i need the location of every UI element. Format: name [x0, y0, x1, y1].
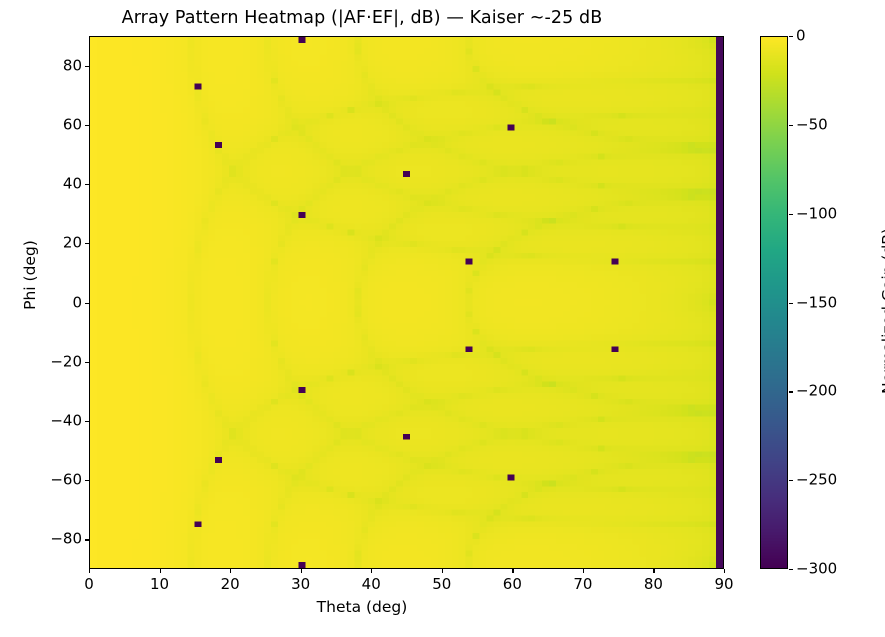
chart-title: Array Pattern Heatmap (|AF·EF|, dB) — Ka…	[0, 6, 724, 30]
x-tick-label: 20	[221, 575, 240, 594]
x-tick-label: 50	[432, 575, 451, 594]
x-tick-label: 60	[503, 575, 522, 594]
heatmap-image	[90, 37, 723, 568]
figure-canvas: Array Pattern Heatmap (|AF·EF|, dB) — Ka…	[0, 0, 885, 637]
x-tick	[160, 569, 161, 573]
y-tick	[85, 421, 89, 422]
y-tick-label: −60	[46, 471, 82, 490]
x-tick	[371, 569, 372, 573]
colorbar-tick	[789, 125, 793, 126]
colorbar-label: Normalized Gain (dB)	[879, 191, 885, 431]
y-tick-label: 60	[46, 115, 82, 134]
y-tick-label: 40	[46, 175, 82, 194]
x-tick-label: 10	[150, 575, 169, 594]
x-tick-label: 30	[291, 575, 310, 594]
x-axis-label: Theta (deg)	[0, 598, 724, 616]
x-tick	[512, 569, 513, 573]
colorbar-tick-label: −250	[796, 471, 837, 490]
x-tick-label: 0	[84, 575, 94, 594]
y-tick	[85, 184, 89, 185]
y-tick-label: 20	[46, 234, 82, 253]
colorbar-tick-label: −50	[796, 115, 828, 134]
colorbar-tick-label: −150	[796, 293, 837, 312]
y-tick	[85, 303, 89, 304]
x-tick	[230, 569, 231, 573]
y-tick-label: −40	[46, 411, 82, 430]
colorbar-tick-label: −100	[796, 204, 837, 223]
x-tick	[653, 569, 654, 573]
x-tick-label: 40	[362, 575, 381, 594]
x-tick	[89, 569, 90, 573]
y-tick	[85, 480, 89, 481]
colorbar-tick	[789, 303, 793, 304]
colorbar-tick	[789, 36, 793, 37]
y-tick	[85, 539, 89, 540]
y-tick-label: 0	[46, 293, 82, 312]
colorbar-tick	[789, 214, 793, 215]
colorbar-tick	[789, 391, 793, 392]
heatmap-axes[interactable]	[89, 36, 724, 569]
colorbar-tick	[789, 569, 793, 570]
y-axis-tick-labels: −80−60−40−20020406080	[40, 0, 82, 637]
x-tick	[583, 569, 584, 573]
x-tick	[301, 569, 302, 573]
colorbar[interactable]	[760, 36, 788, 569]
x-tick	[724, 569, 725, 573]
y-tick-label: 80	[46, 56, 82, 75]
colorbar-tick-label: −200	[796, 382, 837, 401]
heatmap-pixels	[90, 37, 723, 568]
y-tick	[85, 66, 89, 67]
x-tick-label: 80	[644, 575, 663, 594]
colorbar-tick-label: −300	[796, 560, 837, 579]
y-tick	[85, 243, 89, 244]
colorbar-tick	[789, 480, 793, 481]
x-tick	[442, 569, 443, 573]
y-axis-label: Phi (deg)	[21, 165, 39, 385]
y-tick-label: −80	[46, 530, 82, 549]
y-tick	[85, 125, 89, 126]
y-tick	[85, 362, 89, 363]
y-tick-label: −20	[46, 352, 82, 371]
x-tick-label: 70	[573, 575, 592, 594]
colorbar-tick-label: 0	[796, 27, 806, 46]
x-tick-label: 90	[714, 575, 733, 594]
colorbar-gradient	[761, 37, 787, 568]
